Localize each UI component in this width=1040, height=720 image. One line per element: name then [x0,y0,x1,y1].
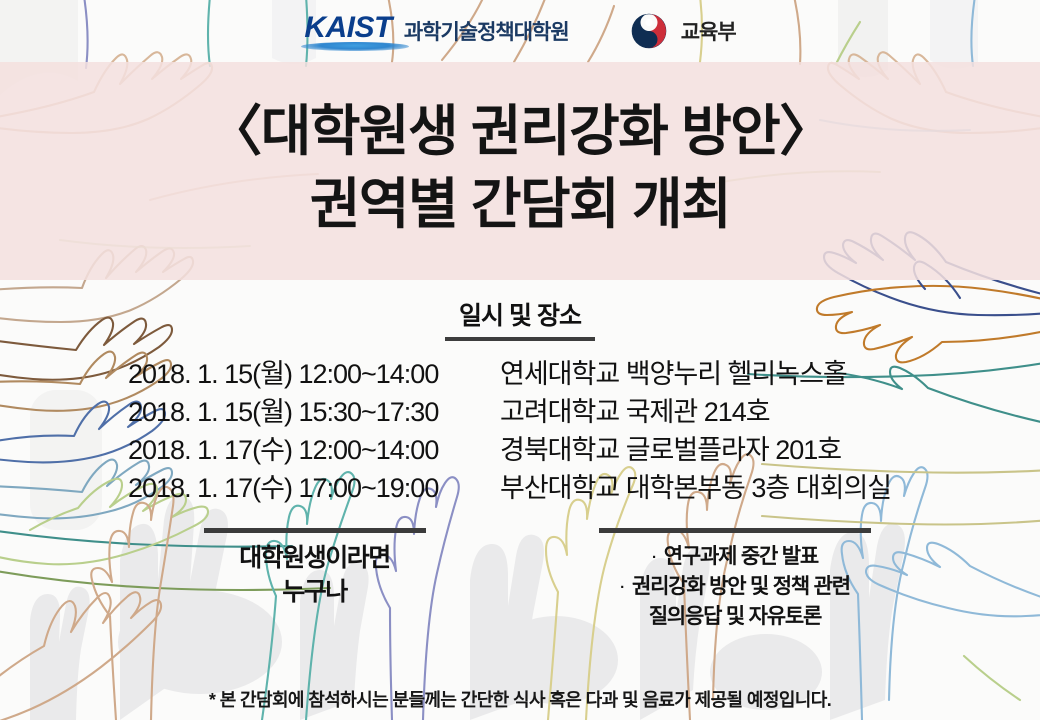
audience-box: 대학원생이라면 누구나 [162,528,467,610]
schedule-venue: 고려대학교 국제관 214호 [500,390,770,429]
schedule-datetime: 2018. 1. 15(월) 15:30~17:30 [128,390,500,429]
schedule-venue: 연세대학교 백양누리 헬리녹스홀 [500,352,847,391]
schedule-row: 2018. 1. 15(월) 12:00~14:00 연세대학교 백양누리 헬리… [128,352,928,390]
title-line-1: 〈대학원생 권리강화 방안〉 [0,95,1040,168]
schedule-datetime: 2018. 1. 15(월) 12:00~14:00 [128,352,500,391]
schedule-heading-label: 일시 및 장소 [459,296,581,332]
title-line-2: 권역별 간담회 개최 [0,168,1040,241]
kaist-logo-group: KAIST 과학기술정책대학원 [304,13,568,50]
audience-line-1: 대학원생이라면 [162,542,467,576]
schedule-section-heading: 일시 및 장소 [0,296,1040,341]
schedule-row: 2018. 1. 17(수) 12:00~14:00 경북대학교 글로벌플라자 … [128,428,928,466]
bullet-icon: · [620,579,624,596]
logo-header: KAIST 과학기술정책대학원 교육부 [0,0,1040,62]
agenda-item-2-label: 권리강화 방안 및 정책 관련 [632,575,850,598]
moe-label: 교육부 [681,16,736,46]
schedule-datetime: 2018. 1. 17(수) 12:00~14:00 [128,428,500,467]
kaist-grad-school-label: 과학기술정책대학원 [404,16,569,46]
kaist-logo-icon: KAIST [304,13,392,50]
audience-box-rule [204,528,426,533]
footer-note: * 본 간담회에 참석하시는 분들께는 간단한 식사 혹은 다과 및 음료가 제… [0,686,1040,712]
bullet-icon: · [652,549,656,566]
agenda-item-2: ·권리강화 방안 및 정책 관련 [570,572,900,602]
schedule-venue: 경북대학교 글로벌플라자 201호 [500,428,841,467]
schedule-heading-rule [445,337,595,341]
taegeuk-emblem-icon [629,11,669,51]
schedule-list: 2018. 1. 15(월) 12:00~14:00 연세대학교 백양누리 헬리… [128,352,928,504]
schedule-row: 2018. 1. 17(수) 17:00~19:00 부산대학교 대학본부동 3… [128,466,928,504]
schedule-venue: 부산대학교 대학본부동 3층 대회의실 [500,466,891,505]
kaist-logo-text: KAIST [304,13,392,43]
moe-logo-group: 교육부 [629,11,736,51]
agenda-box-rule [599,528,871,533]
agenda-box: ·연구과제 중간 발표 ·권리강화 방안 및 정책 관련 질의응답 및 자유토론 [570,528,900,631]
agenda-item-1: ·연구과제 중간 발표 [570,542,900,572]
page-title: 〈대학원생 권리강화 방안〉 권역별 간담회 개최 [0,95,1040,240]
poster-canvas: KAIST 과학기술정책대학원 교육부 〈대학원생 권리강화 방안〉 권역별 간… [0,0,1040,720]
schedule-row: 2018. 1. 15(월) 15:30~17:30 고려대학교 국제관 214… [128,390,928,428]
audience-line-2: 누구나 [162,576,467,610]
schedule-datetime: 2018. 1. 17(수) 17:00~19:00 [128,466,500,505]
kaist-swoosh-icon [301,42,409,51]
agenda-item-1-label: 연구과제 중간 발표 [664,545,818,568]
agenda-item-2-continuation: 질의응답 및 자유토론 [570,602,900,632]
